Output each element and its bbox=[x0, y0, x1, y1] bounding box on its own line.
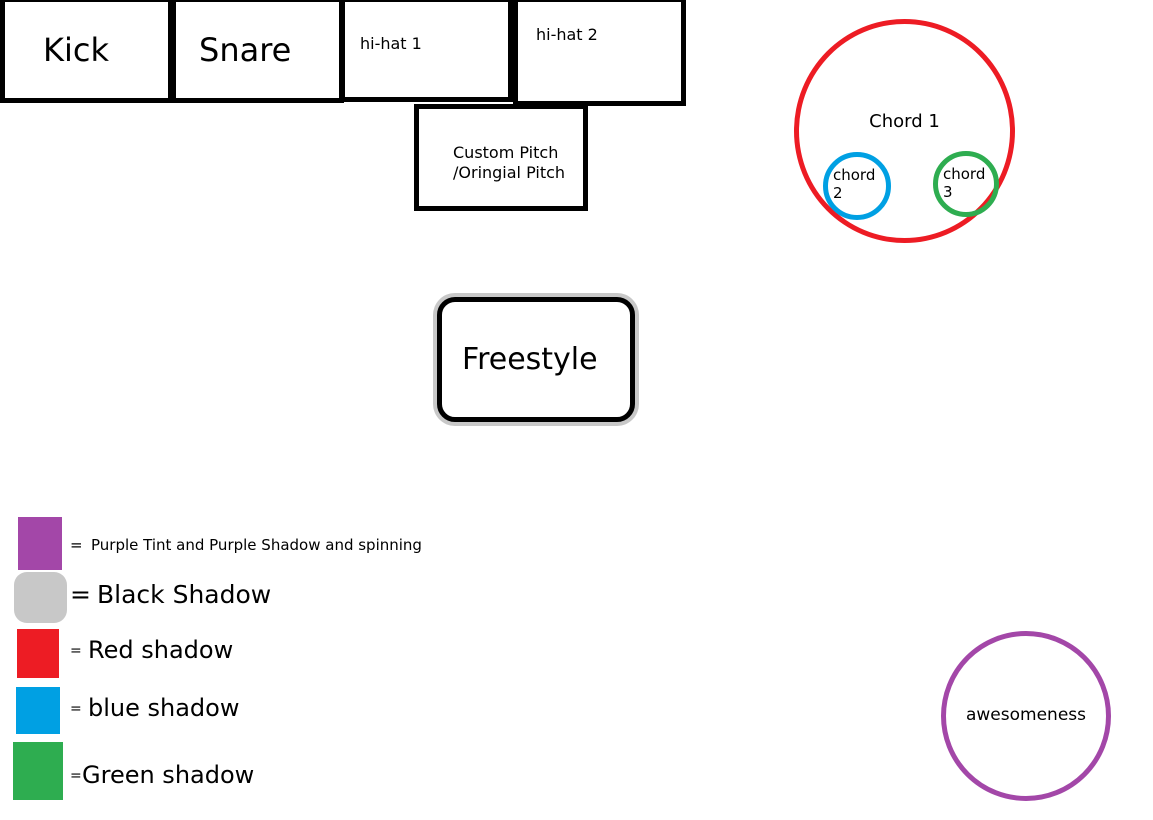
legend-swatch-red bbox=[17, 629, 59, 678]
pad-snare-label: Snare bbox=[199, 30, 291, 70]
pad-hihat-1[interactable]: hi-hat 1 bbox=[340, 0, 513, 102]
legend-swatch-purple bbox=[18, 517, 62, 570]
legend-label-green: Green shadow bbox=[82, 761, 254, 789]
pad-custom-pitch[interactable]: Custom Pitch /Oringial Pitch bbox=[414, 104, 588, 211]
legend-swatch-green bbox=[13, 742, 63, 800]
legend-label-purple: Purple Tint and Purple Shadow and spinni… bbox=[91, 536, 422, 554]
legend-label-red: Red shadow bbox=[88, 636, 233, 664]
pad-hihat-1-label: hi-hat 1 bbox=[360, 34, 422, 54]
legend-equals-purple: = bbox=[70, 536, 83, 554]
legend-equals-green: = bbox=[70, 768, 82, 784]
freestyle-label: Freestyle bbox=[462, 341, 598, 379]
pad-custom-pitch-label: Custom Pitch /Oringial Pitch bbox=[453, 143, 565, 183]
awesomeness-label: awesomeness bbox=[941, 705, 1111, 725]
legend-label-blue: blue shadow bbox=[88, 694, 239, 722]
legend-equals-red: = bbox=[70, 643, 82, 659]
diagram-canvas: Kick Snare hi-hat 1 hi-hat 2 Custom Pitc… bbox=[0, 0, 1153, 820]
legend-swatch-blue bbox=[16, 687, 60, 734]
chord-3-label: chord 3 bbox=[943, 165, 1003, 201]
freestyle-button[interactable]: Freestyle bbox=[437, 297, 635, 422]
legend-swatch-black-shadow bbox=[14, 572, 67, 623]
pad-hihat-2-label: hi-hat 2 bbox=[536, 25, 598, 45]
legend-label-black-shadow: Black Shadow bbox=[97, 580, 271, 609]
pad-kick[interactable]: Kick bbox=[0, 0, 173, 103]
pad-kick-label: Kick bbox=[43, 30, 109, 70]
legend-equals-black-shadow: = bbox=[70, 580, 91, 609]
pad-snare[interactable]: Snare bbox=[171, 0, 344, 103]
chord-1-label: Chord 1 bbox=[794, 111, 1015, 132]
pad-hihat-2[interactable]: hi-hat 2 bbox=[513, 0, 686, 106]
legend-equals-blue: = bbox=[70, 701, 82, 717]
chord-2-label: chord 2 bbox=[833, 166, 893, 202]
